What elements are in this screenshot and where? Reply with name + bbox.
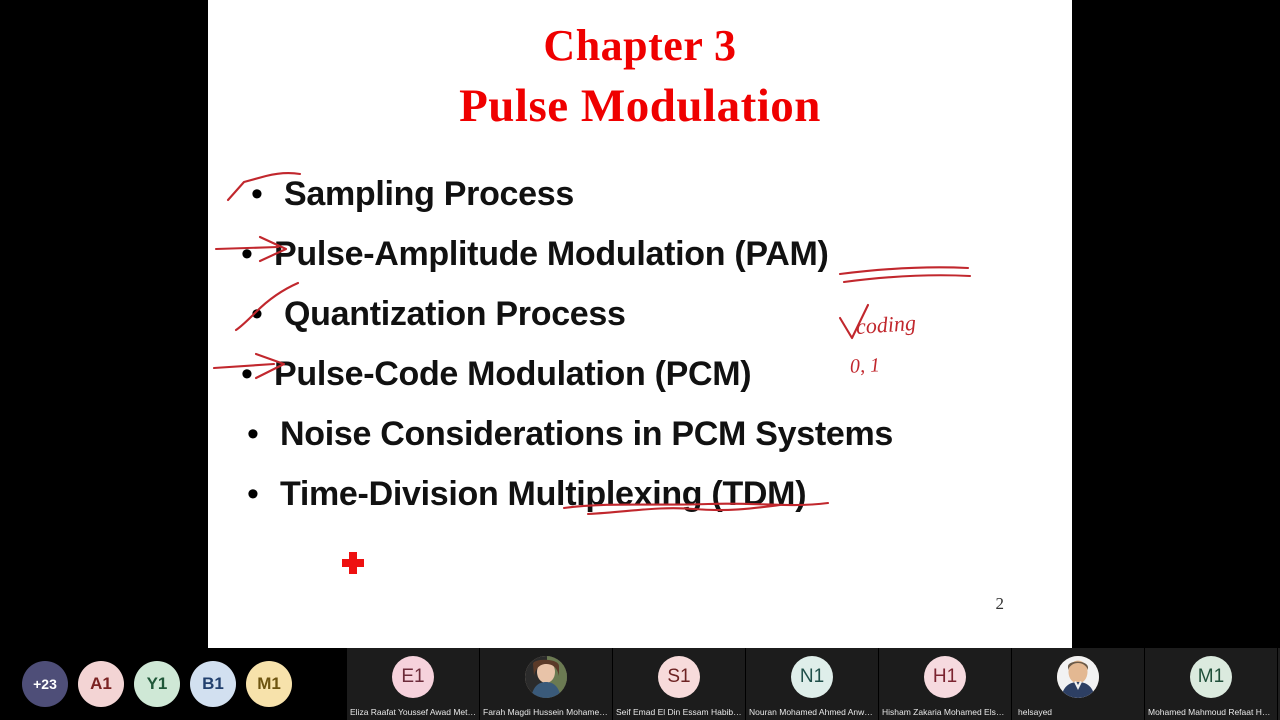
- bullet-item-quantization-process: • Quantization Process: [208, 284, 1072, 344]
- participant-name: Eliza Raafat Youssef Awad Metias 17…: [347, 707, 480, 717]
- ink-note-coding: coding: [855, 310, 917, 340]
- avatar[interactable]: M1: [246, 661, 292, 707]
- avatar-label: Y1: [147, 674, 168, 694]
- avatar: H1: [924, 656, 966, 698]
- shared-screen-stage[interactable]: Chapter 3 Pulse Modulation • Sampling Pr…: [0, 0, 1280, 648]
- avatar-label: A1: [90, 674, 112, 694]
- red-cross-marker-icon: [342, 552, 364, 574]
- bullet-item-noise-considerations: • Noise Considerations in PCM Systems: [208, 404, 1072, 464]
- participant-tile[interactable]: E1 Eliza Raafat Youssef Awad Metias 17…: [347, 648, 480, 720]
- bullet-label: Time-Division Multiplexing (TDM): [280, 474, 806, 514]
- avatar-label: E1: [401, 666, 424, 688]
- avatar-label: H1: [933, 666, 957, 688]
- avatar: N1: [791, 656, 833, 698]
- participant-tile[interactable]: H1 Hisham Zakaria Mohamed Elsayed 1…: [879, 648, 1012, 720]
- participant-name: Nouran Mohamed Ahmed Anwar 1…: [746, 707, 879, 717]
- screen-share-meeting-view: Chapter 3 Pulse Modulation • Sampling Pr…: [0, 0, 1280, 720]
- avatar-overflow-count[interactable]: +23: [22, 661, 68, 707]
- slide-title: Chapter 3 Pulse Modulation: [208, 16, 1072, 136]
- bullet-marker-icon: •: [234, 237, 260, 271]
- avatar-label: N1: [800, 666, 824, 688]
- bullet-item-pulse-code-modulation: • Pulse-Code Modulation (PCM): [208, 344, 1072, 404]
- avatar: S1: [658, 656, 700, 698]
- avatar: E1: [392, 656, 434, 698]
- bullet-label: Pulse-Code Modulation (PCM): [274, 354, 751, 394]
- participant-tile[interactable]: N1 Nouran Mohamed Ahmed Anwar 1…: [746, 648, 879, 720]
- participant-tile[interactable]: helsayed: [1012, 648, 1145, 720]
- person-photo-icon: [1057, 656, 1099, 698]
- bullet-label: Pulse-Amplitude Modulation (PAM): [274, 234, 829, 274]
- avatar[interactable]: B1: [190, 661, 236, 707]
- avatar-label: B1: [202, 674, 224, 694]
- participant-name: helsayed: [1012, 707, 1145, 717]
- avatar-label: +23: [33, 676, 57, 692]
- avatar[interactable]: A1: [78, 661, 124, 707]
- bullet-marker-icon: •: [234, 357, 260, 391]
- slide-title-line2: Pulse Modulation: [208, 76, 1072, 136]
- avatar-label: M1: [257, 674, 281, 694]
- avatar-label: M1: [1198, 666, 1224, 688]
- bullet-label: Noise Considerations in PCM Systems: [280, 414, 893, 454]
- participant-tile[interactable]: Farah Magdi Hussein Mohamed 17…: [480, 648, 613, 720]
- bullet-marker-icon: •: [244, 177, 270, 211]
- participant-avatar-rail[interactable]: +23 A1 Y1 B1 M1: [0, 648, 347, 720]
- bullet-marker-icon: •: [240, 417, 266, 451]
- participant-name: Hisham Zakaria Mohamed Elsayed 1…: [879, 707, 1012, 717]
- avatar-photo: [1057, 656, 1099, 698]
- participant-name: Mohamed Mahmoud Refaat Hanafi…: [1145, 707, 1278, 717]
- ink-note-binary: 0, 1: [849, 354, 880, 379]
- slide-bullet-list: • Sampling Process • Pulse-Amplitude Mod…: [208, 164, 1072, 524]
- bullet-item-pulse-amplitude-modulation: • Pulse-Amplitude Modulation (PAM): [208, 224, 1072, 284]
- avatar-photo: [525, 656, 567, 698]
- bullet-label: Quantization Process: [284, 294, 626, 334]
- participant-filmstrip[interactable]: +23 A1 Y1 B1 M1 E1 Eliza Raafat Youssef …: [0, 648, 1280, 720]
- bullet-item-time-division-multiplexing: • Time-Division Multiplexing (TDM): [208, 464, 1072, 524]
- participant-tile[interactable]: M1 Mohamed Mahmoud Refaat Hanafi…: [1145, 648, 1278, 720]
- bullet-marker-icon: •: [244, 297, 270, 331]
- person-photo-icon: [525, 656, 567, 698]
- avatar-label: S1: [667, 666, 690, 688]
- participant-tiles[interactable]: E1 Eliza Raafat Youssef Awad Metias 17… …: [347, 648, 1280, 720]
- slide-title-line1: Chapter 3: [543, 21, 736, 70]
- participant-tile[interactable]: S1 Seif Emad El Din Essam Habib 17p3…: [613, 648, 746, 720]
- avatar[interactable]: Y1: [134, 661, 180, 707]
- bullet-marker-icon: •: [240, 477, 266, 511]
- avatar: M1: [1190, 656, 1232, 698]
- participant-name: Seif Emad El Din Essam Habib 17p3…: [613, 707, 746, 717]
- bullet-item-sampling-process: • Sampling Process: [208, 164, 1072, 224]
- presentation-slide[interactable]: Chapter 3 Pulse Modulation • Sampling Pr…: [208, 0, 1072, 648]
- participant-name: Farah Magdi Hussein Mohamed 17…: [480, 707, 613, 717]
- slide-page-number: 2: [996, 594, 1005, 614]
- bullet-label: Sampling Process: [284, 174, 574, 214]
